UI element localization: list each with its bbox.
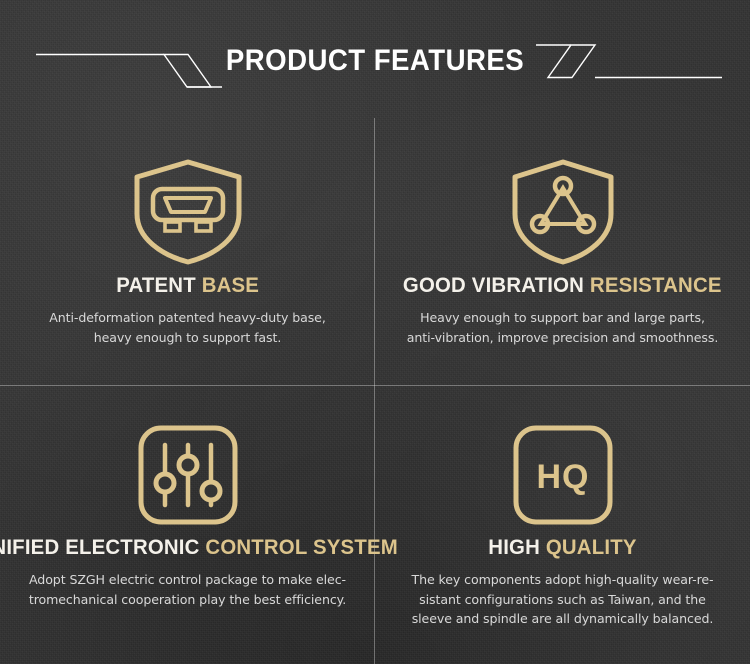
feature-title: UNIFIED ELECTRONIC CONTROL SYSTEM — [0, 536, 398, 559]
feature-icon-wrap: HQ — [511, 422, 615, 528]
feature-description: Heavy enough to support bar and large pa… — [398, 308, 728, 347]
feature-icon-wrap — [129, 158, 247, 266]
page-header: PRODUCT FEATURES — [0, 0, 750, 118]
feature-description-line: sistant configurations such as Taiwan, a… — [398, 590, 728, 610]
feature-card-patent-base[interactable]: PATENT BASE Anti-deformation patented he… — [0, 118, 375, 385]
feature-title: HIGH QUALITY — [488, 536, 636, 559]
feature-description: Anti-deformation patented heavy-duty bas… — [23, 308, 353, 347]
feature-description-line: heavy enough to support fast. — [23, 328, 353, 348]
feature-description-line: anti-vibration, improve precision and sm… — [398, 328, 728, 348]
feature-description-line: Adopt SZGH electric control package to m… — [23, 570, 353, 590]
feature-title-primary: HIGH — [488, 536, 546, 559]
feature-title-primary: GOOD VIBRATION — [403, 274, 590, 297]
feature-description-line: Anti-deformation patented heavy-duty bas… — [23, 308, 353, 328]
feature-card-control-system[interactable]: UNIFIED ELECTRONIC CONTROL SYSTEM Adopt … — [0, 386, 375, 653]
feature-description-line: Heavy enough to support bar and large pa… — [398, 308, 728, 328]
feature-title-accent: RESISTANCE — [590, 274, 722, 297]
feature-icon-wrap — [507, 158, 619, 266]
feature-title-primary: PATENT — [116, 274, 201, 297]
feature-title-accent: BASE — [202, 274, 259, 297]
features-grid: PATENT BASE Anti-deformation patented he… — [0, 118, 750, 664]
feature-description-line: The key components adopt high-quality we… — [398, 570, 728, 590]
feature-title-accent: QUALITY — [546, 536, 637, 559]
hq-badge-label: HQ — [536, 458, 589, 496]
sliders-control-icon — [136, 423, 240, 527]
feature-title: GOOD VIBRATION RESISTANCE — [403, 274, 722, 297]
feature-card-vibration-resistance[interactable]: GOOD VIBRATION RESISTANCE Heavy enough t… — [375, 118, 750, 385]
feature-description-line: tromechanical cooperation play the best … — [23, 590, 353, 610]
header-right-decoration-icon — [530, 44, 722, 86]
page-root: PRODUCT FEATURES PATENT BASE — [0, 0, 750, 664]
feature-card-high-quality[interactable]: HQ HIGH QUALITY The key components adopt… — [375, 386, 750, 653]
feature-description: Adopt SZGH electric control package to m… — [23, 570, 353, 609]
feature-description: The key components adopt high-quality we… — [398, 570, 728, 629]
hq-badge-icon: HQ — [511, 423, 615, 527]
shield-machine-base-icon — [129, 158, 247, 266]
feature-title: PATENT BASE — [116, 274, 259, 297]
feature-title-accent: CONTROL SYSTEM — [206, 536, 398, 559]
feature-description-line: sleeve and spindle are all dynamically b… — [398, 609, 728, 629]
feature-icon-wrap — [136, 422, 240, 528]
shield-triangle-nodes-icon — [507, 158, 619, 266]
feature-title-primary: UNIFIED ELECTRONIC — [0, 536, 206, 559]
